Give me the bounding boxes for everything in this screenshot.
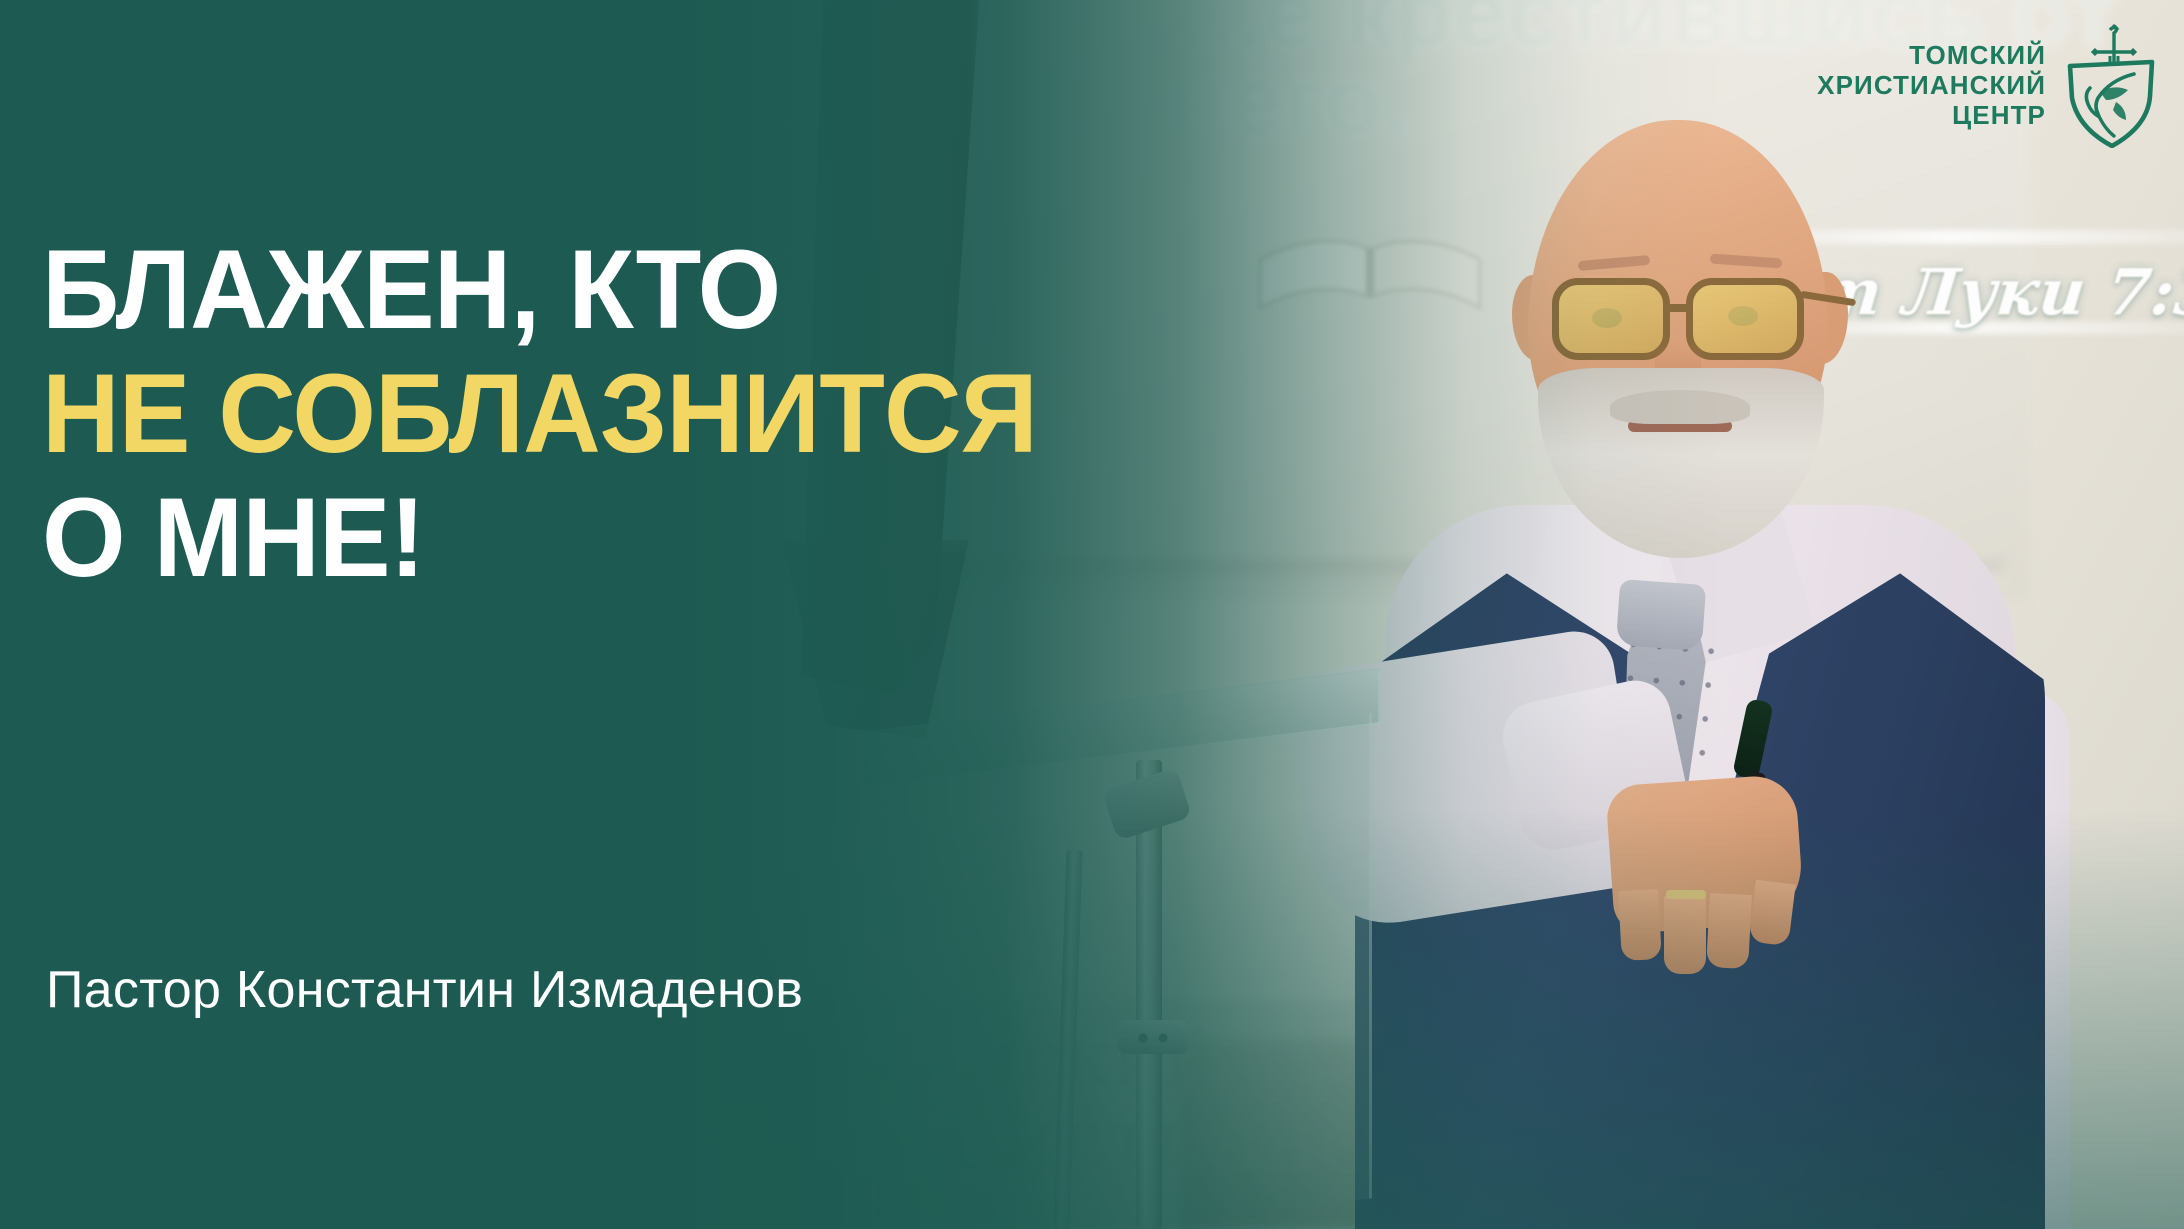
church-logo: Томский Христианский Центр	[1817, 22, 2156, 148]
church-logo-line-2: Христианский	[1817, 70, 2046, 100]
headline-line-3: О МНЕ!	[42, 476, 1271, 600]
headline-line-1: БЛАЖЕН, КТО	[42, 228, 1271, 352]
church-logo-text: Томский Христианский Центр	[1817, 40, 2046, 130]
video-thumbnail: ...е крестившись от него. От Луки 7:30 Т…	[0, 0, 2184, 1229]
speaker-name-subtitle: Пастор Константин Измаденов	[46, 960, 803, 1020]
headline-line-2: НЕ СОБЛАЗНИТСЯ	[42, 352, 1271, 476]
headline: БЛАЖЕН, КТО НЕ СОБЛАЗНИТСЯ О МНЕ!	[42, 228, 1271, 600]
church-logo-line-3: Центр	[1817, 100, 2046, 130]
church-logo-line-1: Томский	[1817, 40, 2046, 70]
shield-with-sword-and-dove-icon	[2060, 22, 2156, 148]
